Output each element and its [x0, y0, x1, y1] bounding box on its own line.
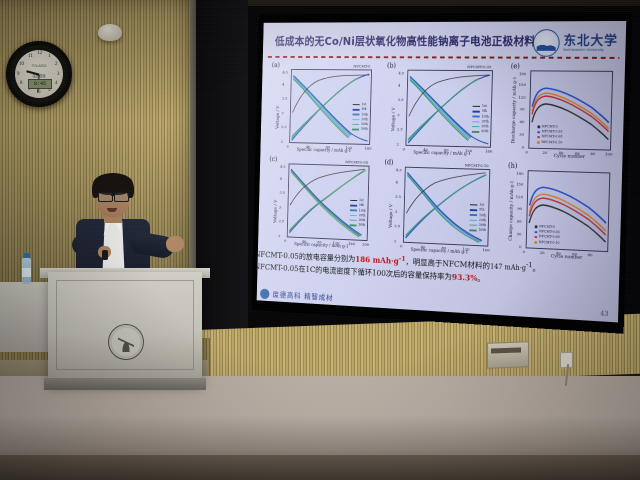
- chart-c-legend: 1st 5th 10th 20th 30th 50th: [350, 198, 366, 228]
- clock-digital-value: 8:45: [29, 80, 51, 88]
- chart-h-ytick-3: 90: [517, 206, 522, 211]
- chart-b-ytick-1: 2.5: [397, 127, 403, 132]
- chart-a-ytick-1: 2.5: [281, 124, 286, 129]
- chart-a-legend: 1st 5th 10th 20th 30th 50th: [352, 102, 368, 132]
- chart-c-panel-label: (c): [269, 155, 277, 163]
- chart-c-ytick-1: 2.5: [279, 219, 284, 224]
- water-bottle-label: [22, 268, 31, 277]
- legend-item: 50th: [350, 223, 366, 229]
- chart-d-xtick-0: 0: [400, 244, 402, 249]
- clock-num-9: 9: [17, 72, 20, 77]
- chart-panel-a: (a) NFCMT-0 0 40 80 120 160 2 2.5 3 3.5 …: [289, 69, 372, 145]
- chart-b-ytick-3: 3.5: [398, 97, 404, 102]
- dark-backdrop-left: [196, 0, 248, 340]
- chart-b-ytick-0: 2: [397, 142, 399, 147]
- clock-num-1: 1: [48, 54, 51, 59]
- chart-d-panel-label: (d): [384, 159, 393, 167]
- presentation-slide: 低成本的无Co/Ni层状氧化物高性能钠离子电池正极材料 东北大学 Northea…: [257, 21, 627, 322]
- legend-item: NFCMT-0.10: [537, 140, 562, 146]
- clock-brand-label: POLARIS: [29, 64, 49, 68]
- projection-screen: 低成本的无Co/Ni层状氧化物高性能钠离子电池正极材料 东北大学 Northea…: [251, 12, 632, 334]
- concl-2-highlight: 93.3%: [452, 272, 478, 283]
- podium: [48, 272, 202, 384]
- legend-label: 50th: [361, 127, 368, 132]
- chart-c-ytick-4: 4: [280, 176, 282, 181]
- logo-chinese-name: 东北大学: [563, 34, 618, 47]
- figure-grid: (a) NFCMT-0 0 40 80 120 160 2 2.5 3 3.5 …: [265, 60, 617, 257]
- chart-d-ytick-2: 3: [395, 209, 397, 214]
- footer-slogan: 废德高科 精智成材: [273, 289, 334, 303]
- chart-a-ytick-5: 4.5: [282, 70, 287, 75]
- chart-e-legend: NFCMT-0 NFCMT-0.05 NFCMT-0.08 NFCMT-0.10: [537, 124, 563, 145]
- chart-b-xtick-0: 0: [403, 147, 405, 152]
- chart-d-ytick-3: 3.5: [395, 194, 401, 199]
- chart-b-ytick-4: 4: [398, 83, 400, 88]
- chart-panel-c: (c) NFCMT-0.08 0 40 80 120 160 200 2 2.5…: [287, 163, 370, 241]
- chart-h-xtick-4: 80: [588, 252, 593, 257]
- chart-e-ytick-2: 60: [520, 119, 525, 124]
- chart-a-panel-label: (a): [272, 62, 280, 69]
- chart-panel-e: (e) 0 20 40 60 80 100 0 30 60 90 120 150…: [528, 70, 613, 150]
- chart-e-xtick-4: 80: [590, 151, 595, 156]
- chart-c-ytick-5: 4.5: [280, 164, 285, 169]
- chart-h-xlabel: Cycle number: [551, 254, 582, 260]
- chart-e-ytick-0: 0: [522, 145, 525, 150]
- clock-num-3: 3: [57, 72, 60, 77]
- podium-base: [44, 378, 206, 390]
- chart-e-ytick-3: 90: [520, 106, 525, 111]
- chart-panel-b: (b) NFCMT-0.05 0 40 80 120 160 2 2.5 3 3…: [405, 70, 493, 148]
- chart-h-panel-label: (h): [508, 162, 518, 170]
- chart-h-xtick-1: 20: [540, 250, 545, 255]
- chart-e-ylabel: Discharge capacity / mAh g-1: [512, 77, 518, 144]
- legend-label: 50th: [479, 228, 486, 233]
- chart-e-xtick-1: 20: [542, 150, 547, 155]
- chart-e-xlabel: Cycle number: [554, 154, 585, 160]
- clock-num-12: 12: [37, 51, 42, 56]
- chart-d-ytick-0: 2: [394, 238, 396, 243]
- chart-b-sample-label: NFCMT-0.05: [467, 64, 491, 69]
- chart-e-panel-label: (e): [511, 62, 520, 70]
- legend-label: NFCMT-0.10: [539, 240, 560, 246]
- clock-num-4: 4: [55, 81, 58, 86]
- chart-b-ylabel: Voltage / V: [392, 107, 397, 131]
- glasses-lens-right: [114, 192, 129, 202]
- clock-num-6: 6: [38, 90, 41, 95]
- legend-label: NFCMT-0.10: [541, 140, 562, 146]
- chart-d-ytick-4: 4: [396, 180, 398, 185]
- chart-c-ytick-2: 3: [279, 205, 281, 210]
- chart-a-xtick-4: 160: [365, 146, 372, 151]
- chart-panel-d: (d) NFCMT-0.10 0 40 80 120 160 2 2.5 3 3…: [403, 167, 490, 247]
- chart-a-sample-label: NFCMT-0: [353, 64, 370, 69]
- glasses-bridge: [111, 195, 114, 196]
- stage-front-edge: [0, 455, 640, 480]
- chart-h-ylabel: Charge capacity / mAh g-1: [509, 180, 515, 241]
- chart-d-ylabel: Voltage / V: [389, 204, 394, 228]
- water-bottle-cap: [24, 253, 30, 258]
- wall-box-slot: [491, 347, 521, 353]
- chart-c-ylabel: Voltage / V: [274, 200, 279, 223]
- chart-b-panel-label: (b): [387, 62, 396, 70]
- legend-item: NFCMT-0.10: [534, 240, 559, 246]
- chart-e-xtick-0: 0: [525, 150, 528, 155]
- chart-e-xtick-5: 100: [605, 151, 613, 156]
- chart-h-legend: NFCMT-0 NFCMT-0.05 NFCMT-0.08 NFCMT-0.10: [534, 224, 560, 246]
- chart-c-xtick-4: 160: [348, 241, 355, 246]
- chart-a-ylabel: Voltage / V: [276, 106, 281, 129]
- legend-item: 50th: [472, 129, 489, 134]
- clock-num-10: 10: [19, 62, 24, 67]
- wall-electrical-box: [487, 341, 529, 368]
- clock-num-11: 11: [28, 54, 33, 59]
- chart-c-ytick-3: 3.5: [279, 190, 284, 195]
- chart-h-ytick-0: 0: [519, 244, 522, 249]
- legend-item: 50th: [352, 127, 368, 132]
- chart-b-xlabel: Specific capacity / mAh g-1: [413, 151, 471, 157]
- clock-face: 12 1 2 3 4 5 6 7 8 9 10 11 POLARIS 温度湿度 …: [15, 50, 63, 98]
- chart-b-xtick-4: 160: [485, 149, 492, 154]
- wall-clock: 12 1 2 3 4 5 6 7 8 9 10 11 POLARIS 温度湿度 …: [6, 41, 72, 107]
- chart-c-xtick-0: 0: [284, 238, 286, 243]
- legend-item: 50th: [469, 228, 486, 234]
- chart-b-ytick-5: 4.5: [398, 71, 404, 76]
- chart-c-ytick-0: 2: [278, 233, 280, 238]
- podium-emblem-icon: [108, 324, 144, 360]
- chart-d-legend: 1st 5th 10th 20th 30th 50th: [469, 202, 486, 233]
- slide-footer: 废德高科 精智成材: [260, 289, 333, 304]
- chart-d-sample-label: NFCMT-0.10: [465, 163, 489, 168]
- chart-panel-h: (h) 0 20 40 60 80 0 30 60 90 120 150 180…: [526, 170, 611, 252]
- concl-1-value: 147 mAh·g: [490, 263, 526, 273]
- chart-d-ytick-5: 4.5: [396, 167, 402, 172]
- legend-label: 50th: [358, 223, 365, 228]
- clock-num-2: 2: [55, 62, 58, 67]
- chart-h-ytick-2: 60: [517, 219, 522, 224]
- chart-h-xtick-0: 0: [523, 249, 526, 254]
- chart-a-ytick-3: 3.5: [282, 96, 287, 101]
- presentation-clicker: [102, 250, 108, 260]
- chart-h-ytick-5: 150: [516, 182, 523, 187]
- legend-label: 50th: [481, 129, 488, 134]
- clock-digital-display: 8:45: [28, 79, 52, 89]
- chart-e-ytick-5: 150: [519, 82, 526, 87]
- chart-a-ytick-0: 2: [281, 139, 283, 144]
- university-logo: 东北大学 Northeastern University: [533, 29, 619, 57]
- concl-2-end: 。: [477, 273, 485, 283]
- chart-h-ytick-1: 30: [517, 231, 522, 236]
- chart-a-xtick-0: 0: [286, 144, 288, 149]
- chart-d-xtick-4: 160: [483, 247, 490, 252]
- chart-e-ytick-1: 30: [519, 132, 524, 137]
- chart-h-ytick-4: 120: [516, 194, 523, 199]
- chart-a-ytick-2: 3: [281, 111, 283, 116]
- chart-b-ytick-2: 3: [397, 112, 399, 117]
- chart-a-xlabel: Specific capacity / mAh g-1: [297, 148, 352, 154]
- glasses-lens-left: [98, 192, 113, 202]
- chart-b-legend: 1st 5th 10th 20th 30th 50th: [472, 104, 489, 135]
- slide-page-number: 43: [600, 309, 608, 317]
- lecture-hall-scene: 12 1 2 3 4 5 6 7 8 9 10 11 POLARIS 温度湿度 …: [0, 0, 640, 480]
- chart-d-ytick-1: 2.5: [394, 223, 400, 228]
- concl-1-end: 。: [532, 263, 540, 273]
- university-seal-icon: [533, 29, 560, 57]
- chart-a-ytick-4: 4: [282, 82, 284, 87]
- slide-title: 低成本的无Co/Ni层状氧化物高性能钠离子电池正极材料: [275, 35, 543, 49]
- clock-num-8: 8: [20, 81, 23, 86]
- footer-seal-icon: [260, 289, 269, 300]
- chart-e-ytick-4: 120: [518, 95, 525, 100]
- concl-1-highlight: 186 mAh·g: [355, 254, 399, 266]
- chart-c-xtick-5: 200: [362, 242, 369, 247]
- ceiling-dome-lamp: [98, 24, 122, 41]
- chart-e-ytick-6: 180: [519, 71, 526, 76]
- chart-h-ytick-6: 180: [516, 171, 523, 176]
- chart-c-sample-label: NFCMT-0.08: [345, 159, 368, 164]
